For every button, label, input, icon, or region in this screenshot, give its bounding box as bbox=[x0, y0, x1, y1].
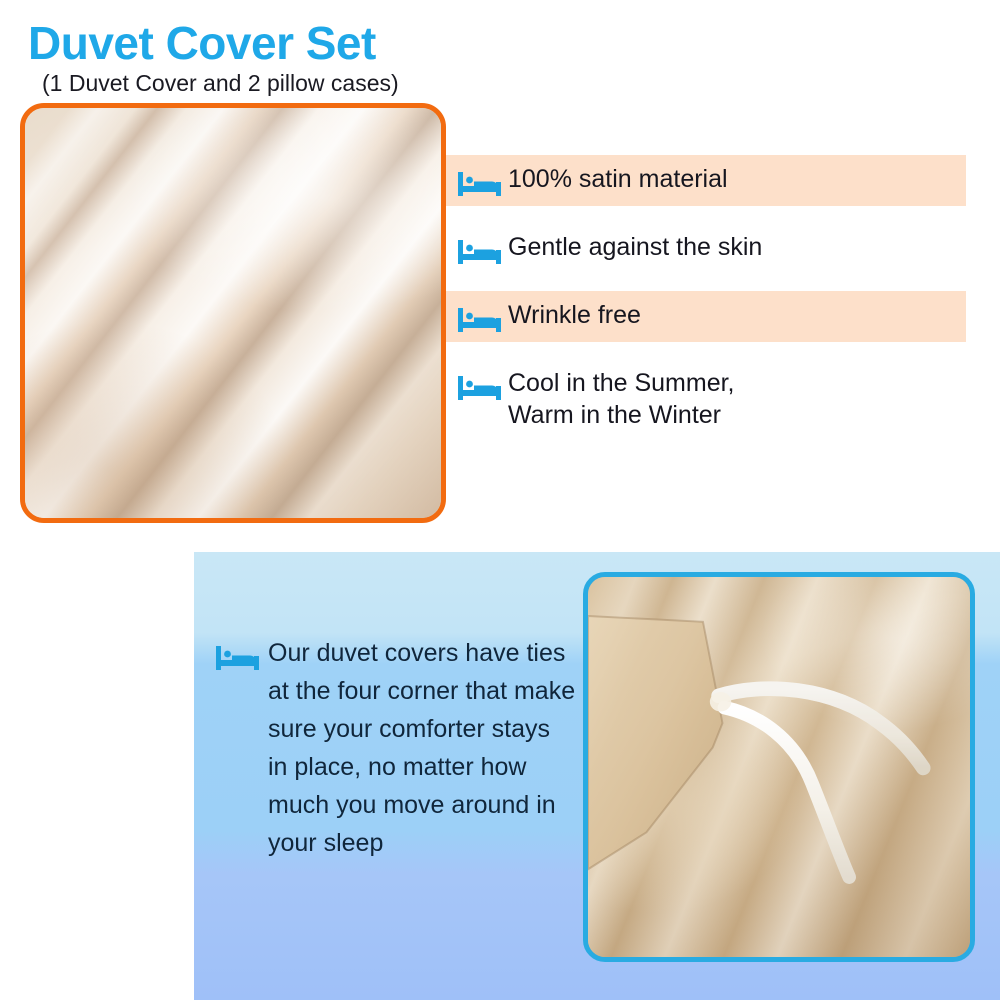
feature-label: Cool in the Summer, Warm in the Winter bbox=[508, 367, 735, 431]
bed-icon bbox=[458, 168, 502, 198]
feature-item: 100% satin material bbox=[446, 155, 966, 206]
feature-label: 100% satin material bbox=[508, 163, 728, 195]
tie-description-block: Our duvet covers have ties at the four c… bbox=[216, 634, 576, 862]
satin-fabric-photo bbox=[20, 103, 446, 523]
feature-label: Wrinkle free bbox=[508, 299, 641, 331]
satin-fabric-image bbox=[25, 108, 441, 518]
feature-label: Gentle against the skin bbox=[508, 231, 762, 263]
bed-icon bbox=[458, 236, 502, 266]
bed-icon bbox=[458, 372, 502, 402]
ribbon-ties-graphic bbox=[588, 577, 970, 957]
corner-tie-photo bbox=[583, 572, 975, 962]
tie-description-text: Our duvet covers have ties at the four c… bbox=[268, 634, 576, 862]
page-subtitle: (1 Duvet Cover and 2 pillow cases) bbox=[42, 70, 399, 97]
feature-list: 100% satin material Gentle against the s… bbox=[446, 155, 966, 456]
feature-item: Gentle against the skin bbox=[446, 223, 966, 274]
bed-icon bbox=[216, 642, 260, 672]
header: Duvet Cover Set (1 Duvet Cover and 2 pil… bbox=[0, 0, 470, 100]
feature-item: Cool in the Summer, Warm in the Winter bbox=[446, 359, 966, 439]
page-title: Duvet Cover Set bbox=[28, 16, 376, 70]
bed-icon bbox=[458, 304, 502, 334]
feature-item: Wrinkle free bbox=[446, 291, 966, 342]
